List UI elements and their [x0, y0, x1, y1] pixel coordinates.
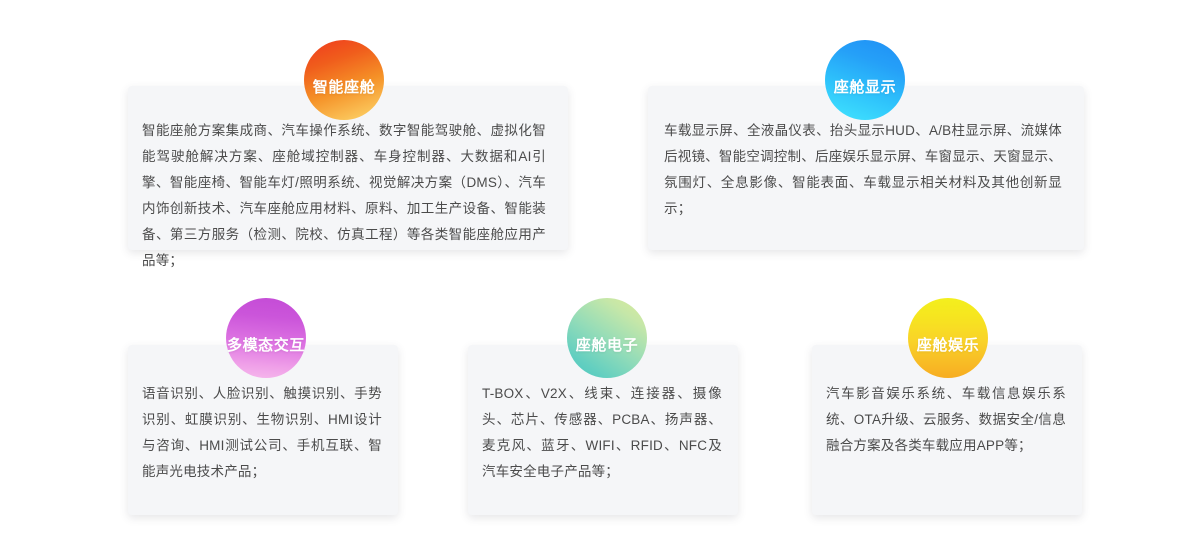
category-card-body: T-BOX、V2X、线束、连接器、摄像头、芯片、传感器、PCBA、扬声器、麦克风… [468, 381, 738, 485]
category-badge-smart-cockpit[interactable]: 智能座舱 [304, 40, 384, 120]
category-badge-label: 智能座舱 [313, 76, 375, 97]
category-card-body: 智能座舱方案集成商、汽车操作系统、数字智能驾驶舱、虚拟化智能驾驶舱解决方案、座舱… [128, 118, 568, 274]
category-card-body: 语音识别、人脸识别、触摸识别、手势识别、虹膜识别、生物识别、HMI设计与咨询、H… [128, 381, 398, 485]
category-badge-multimodal-interaction[interactable]: 多模态交互 [226, 298, 306, 378]
category-badge-label: 多模态交互 [227, 334, 305, 355]
category-badge-label: 座舱电子 [576, 334, 638, 355]
category-badge-label: 座舱娱乐 [917, 334, 979, 355]
category-badge-cockpit-display[interactable]: 座舱显示 [825, 40, 905, 120]
category-card-body: 汽车影音娱乐系统、车载信息娱乐系统、OTA升级、云服务、数据安全/信息融合方案及… [812, 381, 1082, 459]
category-badge-cockpit-entertainment[interactable]: 座舱娱乐 [908, 298, 988, 378]
category-badge-cockpit-electronics[interactable]: 座舱电子 [567, 298, 647, 378]
category-badge-label: 座舱显示 [834, 76, 896, 97]
category-cards-canvas: 智能座舱方案集成商、汽车操作系统、数字智能驾驶舱、虚拟化智能驾驶舱解决方案、座舱… [0, 0, 1200, 550]
category-card-body: 车载显示屏、全液晶仪表、抬头显示HUD、A/B柱显示屏、流媒体后视镜、智能空调控… [648, 118, 1084, 222]
